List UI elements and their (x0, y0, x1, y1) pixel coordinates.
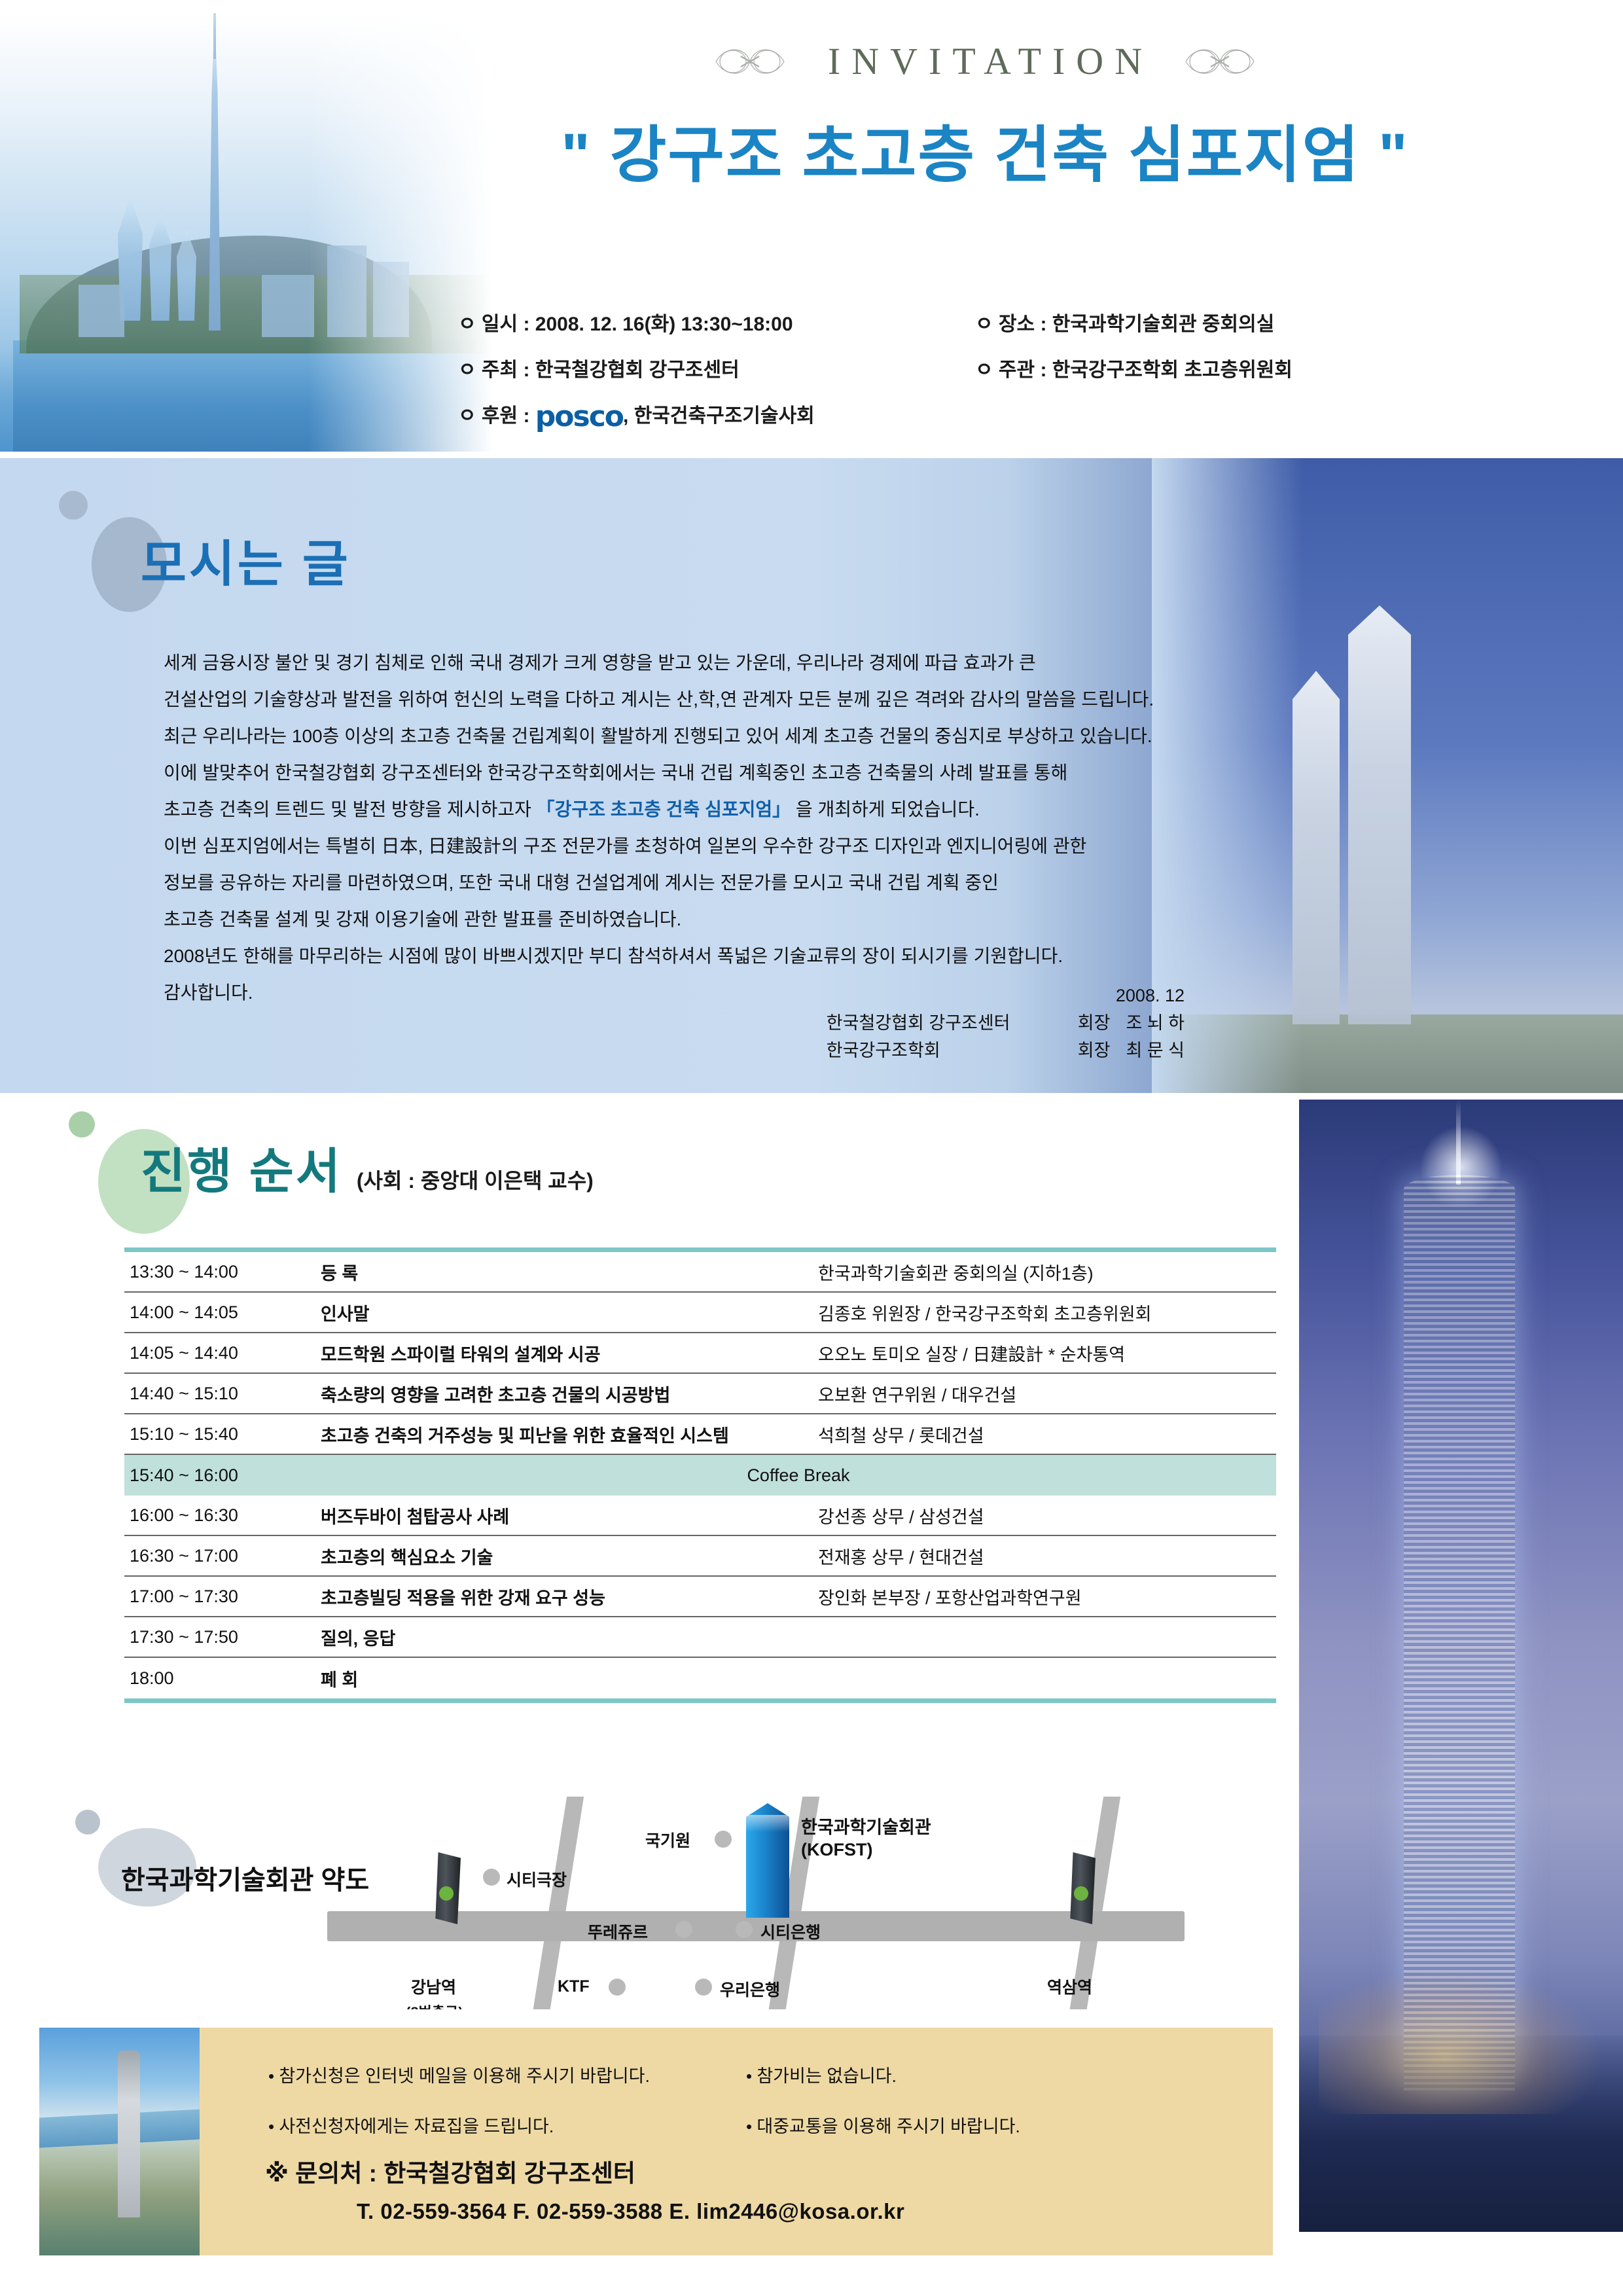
row-topic: 등 록 (321, 1259, 818, 1285)
greeting-signature: 2008. 12 한국철강협회 강구조센터 회장 조 뇌 하 한국강구조학회 회… (753, 982, 1185, 1064)
signatory-name-1: 조 뇌 하 (1126, 1009, 1185, 1037)
row-speaker: 전재홍 상무 / 현대건설 (818, 1543, 1276, 1569)
map-label-gangnam-station: 강남역 (411, 1975, 456, 1998)
row-time: 17:00 ~ 17:30 (124, 1587, 321, 1607)
row-time: 15:10 ~ 15:40 (124, 1424, 321, 1444)
poster-header: INVITATION " 강구조 초고층 건축 심포지엄 " ㅇ 일시 : 20… (0, 0, 1623, 458)
map-dot-woori-bank (695, 1979, 712, 1996)
title-block: INVITATION " 강구조 초고층 건축 심포지엄 " (406, 39, 1564, 194)
table-row-coffee-break: 15:40 ~ 16:00 Coffee Break (124, 1455, 1276, 1496)
signatory-row-1: 한국철강협회 강구조센터 회장 조 뇌 하 (753, 1009, 1185, 1037)
decor-bubble-green (69, 1111, 95, 1138)
row-topic: 초고층 건축의 거주성능 및 피난을 위한 효율적인 시스템 (321, 1422, 818, 1447)
greeting-line-5: 초고층 건축의 트렌드 및 발전 방향을 제시하고자 「강구조 초고층 건축 심… (164, 791, 1185, 828)
greeting-line-1: 세계 금융시장 불안 및 경기 침체로 인해 국내 경제가 크게 영향을 받고 … (164, 645, 1185, 681)
flourish-left-icon (711, 42, 789, 81)
row-speaker: 한국과학기술회관 중회의실 (지하1층) (818, 1259, 1276, 1285)
row-time: 14:40 ~ 15:10 (124, 1384, 321, 1404)
row-speaker: 강선종 상무 / 삼성건설 (818, 1503, 1276, 1528)
greeting-line-2: 건설산업의 기술향상과 발전을 위하여 헌신의 노력을 다하고 계시는 산,학,… (164, 681, 1185, 718)
greeting-tower-secondary (1293, 671, 1340, 1024)
row-speaker: 김종호 위원장 / 한국강구조학회 초고층위원회 (818, 1300, 1276, 1325)
schedule-table: 13:30 ~ 14:00 등 록 한국과학기술회관 중회의실 (지하1층) 1… (124, 1247, 1276, 1703)
greeting-tower-photo (1152, 458, 1623, 1093)
schedule-rule-bottom (124, 1698, 1276, 1703)
row-topic: 인사말 (321, 1300, 818, 1325)
map-dot-ktf (609, 1979, 626, 1996)
row-topic: 버즈두바이 첨탑공사 사례 (321, 1503, 818, 1528)
row-time: 18:00 (124, 1668, 321, 1689)
greeting-line-8: 초고층 건축물 설계 및 강재 이용기술에 관한 발표를 준비하였습니다. (164, 901, 1185, 938)
map-dot-city-theater (483, 1869, 500, 1886)
detail-date: ㅇ 일시 : 2008. 12. 16(화) 13:30~18:00 (458, 308, 975, 336)
subway-marker-yeoksam-icon (1068, 1852, 1096, 1924)
signatory-org-2: 한국강구조학회 (827, 1037, 1062, 1064)
location-map: 한국과학기술회관 약도 국기원 한국과학기술회관 (KOFST) 시티극장 뚜레… (0, 1797, 1296, 2013)
table-row: 14:05 ~ 14:40 모드학원 스파이럴 타워의 설계와 시공 오오노 토… (124, 1333, 1276, 1374)
table-row: 14:00 ~ 14:05 인사말 김종호 위원장 / 한국강구조학회 초고층위… (124, 1293, 1276, 1333)
table-row: 17:00 ~ 17:30 초고층빌딩 적용을 위한 강재 요구 성능 장인화 … (124, 1577, 1276, 1617)
footer-contact-label: ※ 문의처 : 한국철강협회 강구조센터 (265, 2153, 635, 2189)
city-block-4 (373, 262, 409, 337)
footer-photo-tower (118, 2051, 140, 2217)
greeting-section: 모시는 글 세계 금융시장 불안 및 경기 침체로 인해 국내 경제가 크게 영… (0, 458, 1623, 1093)
row-speaker: 장인화 본부장 / 포항산업과학연구원 (818, 1584, 1276, 1609)
signatory-role-1: 회장 (1078, 1009, 1111, 1037)
greeting-body: 세계 금융시장 불안 및 경기 침체로 인해 국내 경제가 크게 영향을 받고 … (164, 645, 1185, 1011)
flourish-right-icon (1181, 42, 1259, 81)
row-topic: Coffee Break (321, 1465, 1276, 1486)
kofst-building-icon (746, 1803, 789, 1918)
map-label-venue: 한국과학기술회관 (KOFST) (801, 1816, 931, 1861)
map-dot-tous-les-jours (675, 1921, 692, 1938)
signatory-role-2: 회장 (1078, 1037, 1111, 1064)
event-details: ㅇ 일시 : 2008. 12. 16(화) 13:30~18:00 ㅇ 장소 … (458, 308, 1518, 433)
greeting-highlight: 「강구조 초고층 건축 심포지엄」 (537, 799, 791, 819)
side-tower-2 (149, 213, 171, 321)
map-label-city-theater: 시티극장 (507, 1867, 567, 1891)
map-label-woori-bank: 우리은행 (720, 1977, 780, 2001)
map-label-tous-les-jours: 뚜레쥬르 (588, 1920, 648, 1943)
map-label-citi-bank: 시티은행 (760, 1920, 821, 1943)
tower-light-beam (1456, 1100, 1461, 1185)
subway-marker-gangnam-icon (433, 1852, 461, 1924)
map-label-gukgiwon: 국기원 (645, 1828, 690, 1852)
program-header: 진행 순서 (사회 : 중앙대 이은택 교수) (141, 1132, 594, 1202)
greeting-title: 모시는 글 (141, 524, 351, 596)
detail-venue: ㅇ 장소 : 한국과학기술회관 중회의실 (975, 308, 1518, 336)
map-label-yeoksam-station: 역삼역 (1047, 1975, 1092, 1998)
posco-logo: posco (535, 400, 623, 433)
right-photo-tower (1404, 1175, 1515, 2091)
row-time: 15:40 ~ 16:00 (124, 1465, 321, 1486)
row-topic: 폐 회 (321, 1666, 818, 1691)
river-shape (13, 340, 497, 452)
map-venue-name: 한국과학기술회관 (801, 1816, 931, 1839)
page-title: " 강구조 초고층 건축 심포지엄 " (406, 105, 1564, 194)
program-section: 진행 순서 (사회 : 중앙대 이은택 교수) 13:30 ~ 14:00 등 … (0, 1093, 1296, 2009)
detail-organizer: ㅇ 주관 : 한국강구조학회 초고층위원회 (975, 353, 1518, 382)
program-subtitle: (사회 : 중앙대 이은택 교수) (357, 1164, 594, 1202)
row-time: 17:30 ~ 17:50 (124, 1627, 321, 1647)
greeting-hl-prefix: 초고층 건축의 트렌드 및 발전 방향을 제시하고자 (164, 799, 537, 819)
footer-note-2: 참가비는 없습니다. (746, 2062, 1198, 2087)
poster-footer: 참가신청은 인터넷 메일을 이용해 주시기 바랍니다. 참가비는 없습니다. 사… (0, 2009, 1299, 2296)
city-block-1 (79, 285, 124, 337)
row-time: 14:00 ~ 14:05 (124, 1302, 321, 1323)
schedule-rule-top (124, 1247, 1276, 1252)
city-block-3 (327, 245, 366, 337)
footer-note-1: 참가신청은 인터넷 메일을 이용해 주시기 바랍니다. (268, 2062, 746, 2087)
detail-sponsor: ㅇ 후원 : posco, 한국건축구조기술사회 (458, 399, 1518, 433)
row-speaker: 석희철 상무 / 롯데건설 (818, 1422, 1276, 1447)
greeting-line-9: 2008년도 한해를 마무리하는 시점에 많이 바쁘시겠지만 부디 참석하셔서 … (164, 938, 1185, 975)
row-time: 16:00 ~ 16:30 (124, 1505, 321, 1526)
signatory-org-1: 한국철강협회 강구조센터 (827, 1009, 1062, 1037)
footer-info-box: 참가신청은 인터넷 메일을 이용해 주시기 바랍니다. 참가비는 없습니다. 사… (200, 2028, 1273, 2255)
sponsor-prefix: ㅇ 후원 : (458, 405, 535, 427)
row-topic: 모드학원 스파이럴 타워의 설계와 시공 (321, 1340, 818, 1366)
map-venue-abbr: (KOFST) (801, 1839, 931, 1861)
row-time: 14:05 ~ 14:40 (124, 1343, 321, 1363)
signatory-name-2: 최 문 식 (1126, 1037, 1185, 1064)
greeting-tower-primary (1348, 605, 1411, 1024)
row-topic: 질의, 응답 (321, 1624, 818, 1650)
row-topic: 초고층빌딩 적용을 위한 강재 요구 성능 (321, 1584, 818, 1609)
greeting-line-6: 이번 심포지엄에서는 특별히 日本, 日建設計의 구조 전문가를 초청하여 일본… (164, 828, 1185, 865)
right-tower-photo (1299, 1100, 1623, 2232)
row-speaker: 오오노 토미오 실장 / 日建設計 * 순차통역 (818, 1340, 1276, 1366)
tower-spire-needle (213, 0, 216, 59)
signature-date: 2008. 12 (753, 982, 1185, 1009)
table-row: 15:10 ~ 15:40 초고층 건축의 거주성능 및 피난을 위한 효율적인… (124, 1414, 1276, 1455)
greeting-line-4: 이에 발맞추어 한국철강협회 강구조센터와 한국강구조학회에서는 국내 건립 계… (164, 755, 1185, 791)
row-time: 16:30 ~ 17:00 (124, 1546, 321, 1566)
footer-note-4: 대중교통을 이용해 주시기 바랍니다. (746, 2112, 1198, 2138)
city-block-2 (262, 275, 314, 337)
right-photo-city-glow (1319, 1970, 1600, 2114)
greeting-photo-ground (1152, 1014, 1623, 1093)
sponsor-suffix: , 한국건축구조기술사회 (623, 405, 815, 427)
map-dot-citi-bank (736, 1921, 753, 1938)
footer-contact-line: T. 02-559-3564 F. 02-559-3588 E. lim2446… (357, 2199, 904, 2224)
table-row: 13:30 ~ 14:00 등 록 한국과학기술회관 중회의실 (지하1층) (124, 1252, 1276, 1293)
greeting-line-3: 최근 우리나라는 100층 이상의 초고층 건축물 건립계획이 활발하게 진행되… (164, 718, 1185, 755)
map-label-ktf: KTF (558, 1977, 590, 1996)
invitation-row: INVITATION (406, 39, 1564, 83)
map-canvas: 국기원 한국과학기술회관 (KOFST) 시티극장 뚜레쥬르 시티은행 KTF … (314, 1797, 1243, 2013)
row-time: 13:30 ~ 14:00 (124, 1262, 321, 1282)
footer-note-3: 사전신청자에게는 자료집을 드립니다. (268, 2112, 746, 2138)
table-row: 18:00 폐 회 (124, 1658, 1276, 1698)
footer-notes: 참가신청은 인터넷 메일을 이용해 주시기 바랍니다. 참가비는 없습니다. 사… (268, 2062, 1198, 2138)
program-title: 진행 순서 (141, 1132, 342, 1202)
greeting-hl-suffix: 을 개최하게 되었습니다. (791, 799, 980, 819)
map-dot-gukgiwon (715, 1831, 732, 1848)
invitation-label: INVITATION (817, 39, 1153, 83)
table-row: 14:40 ~ 15:10 축소량의 영향을 고려한 초고층 건물의 시공방법 … (124, 1374, 1276, 1414)
decor-bubble-gray (59, 491, 88, 520)
table-row: 17:30 ~ 17:50 질의, 응답 (124, 1617, 1276, 1658)
row-topic: 축소량의 영향을 고려한 초고층 건물의 시공방법 (321, 1381, 818, 1407)
row-topic: 초고층의 핵심요소 기술 (321, 1543, 818, 1569)
greeting-line-7: 정보를 공유하는 자리를 마련하였으며, 또한 국내 대형 건설업계에 계시는 … (164, 865, 1185, 901)
table-row: 16:00 ~ 16:30 버즈두바이 첨탑공사 사례 강선종 상무 / 삼성건… (124, 1496, 1276, 1536)
signatory-row-2: 한국강구조학회 회장 최 문 식 (753, 1037, 1185, 1064)
detail-host: ㅇ 주최 : 한국철강협회 강구조센터 (458, 353, 975, 382)
row-speaker: 오보환 연구위원 / 대우건설 (818, 1381, 1276, 1407)
decor-bubble-map (75, 1810, 100, 1835)
table-row: 16:30 ~ 17:00 초고층의 핵심요소 기술 전재홍 상무 / 현대건설 (124, 1536, 1276, 1577)
